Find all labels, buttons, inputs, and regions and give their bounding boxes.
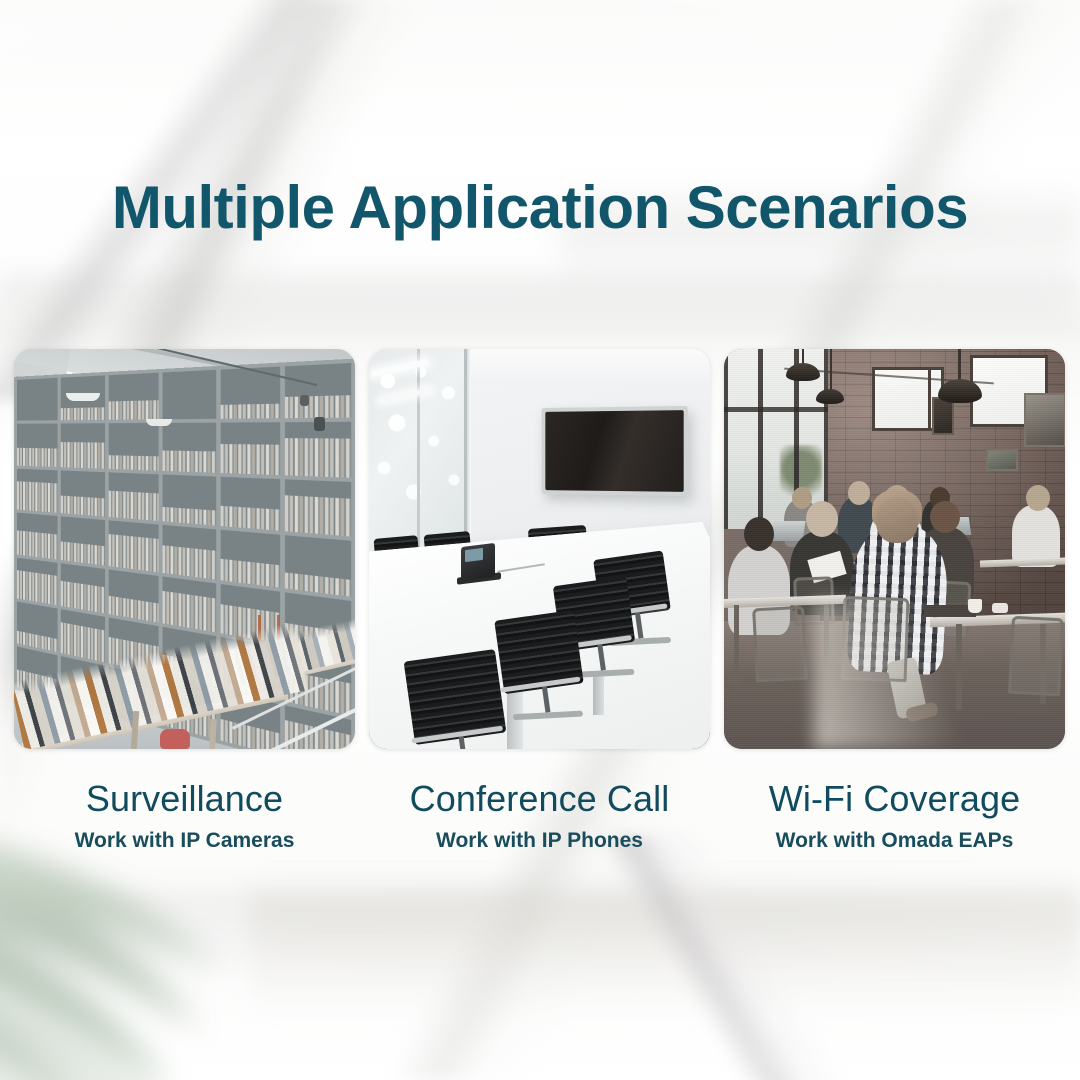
surveillance-photo xyxy=(14,349,355,749)
wifi-coverage-photo xyxy=(724,349,1065,749)
caption-subtitle-surveillance: Work with IP Cameras xyxy=(14,828,355,854)
scenario-card-surveillance[interactable] xyxy=(14,349,355,749)
promo-banner: Multiple Application Scenarios xyxy=(0,0,1080,1080)
background-plant-leaves-secondary xyxy=(0,960,270,1080)
cafe-film-grain xyxy=(724,349,1065,749)
library-red-stool xyxy=(160,729,190,749)
caption-subtitle-conference-call: Work with IP Phones xyxy=(369,828,710,854)
conference-ip-phone-screen xyxy=(465,548,483,562)
caption-conference-call: Conference Call Work with IP Phones xyxy=(369,778,710,854)
library-spotlight-1 xyxy=(314,417,325,431)
scenario-card-row xyxy=(14,349,1066,749)
caption-title-wifi-coverage: Wi-Fi Coverage xyxy=(724,778,1065,820)
page-title: Multiple Application Scenarios xyxy=(0,172,1080,244)
conference-call-photo xyxy=(369,349,710,749)
scenario-caption-row: Surveillance Work with IP Cameras Confer… xyxy=(14,778,1066,854)
caption-title-surveillance: Surveillance xyxy=(14,778,355,820)
library-spotlight-2 xyxy=(300,395,309,406)
caption-surveillance: Surveillance Work with IP Cameras xyxy=(14,778,355,854)
caption-wifi-coverage: Wi-Fi Coverage Work with Omada EAPs xyxy=(724,778,1065,854)
scenario-card-wifi-coverage[interactable] xyxy=(724,349,1065,749)
caption-title-conference-call: Conference Call xyxy=(369,778,710,820)
conference-chair-near-3 xyxy=(494,610,584,694)
library-pendant-lamp-1 xyxy=(66,393,100,401)
conference-tv-screen xyxy=(545,410,683,492)
scenario-card-conference-call[interactable] xyxy=(369,349,710,749)
library-pendant-lamp-2 xyxy=(146,419,172,426)
conference-chair-near-4 xyxy=(404,649,507,745)
caption-subtitle-wifi-coverage: Work with Omada EAPs xyxy=(724,828,1065,854)
conference-table-leg-2 xyxy=(593,673,604,715)
